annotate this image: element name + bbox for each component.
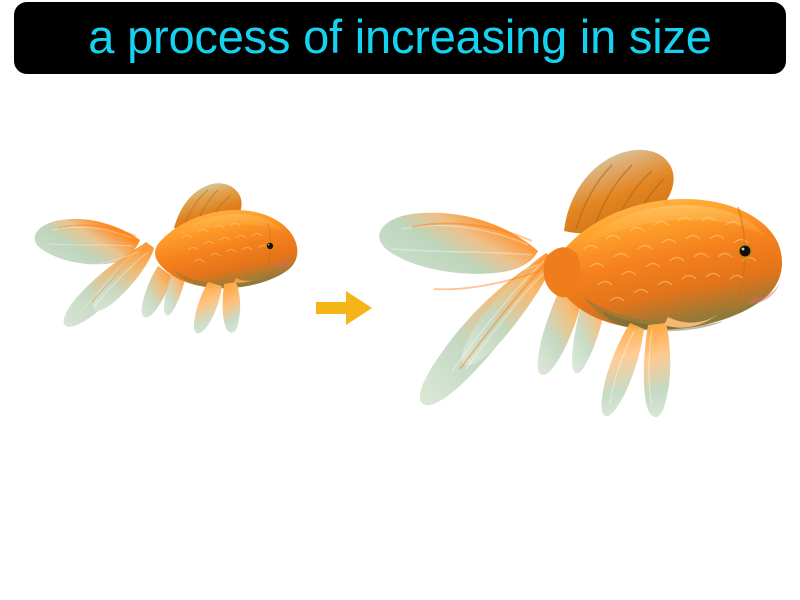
growth-arrow xyxy=(314,288,374,328)
small-fish-eye xyxy=(267,243,273,249)
definition-card: a process of increasing in size xyxy=(0,0,800,600)
large-fish-peduncle xyxy=(544,247,581,297)
definition-banner: a process of increasing in size xyxy=(14,2,786,74)
small-goldfish xyxy=(22,170,312,370)
large-fish-eye xyxy=(740,246,751,257)
large-fish-eye-glint xyxy=(742,248,745,251)
illustration-area xyxy=(0,90,800,520)
large-fish-tail-upper xyxy=(379,213,538,274)
small-fish-pelvic-fin-front xyxy=(223,282,240,333)
small-fish-pelvic-fin-back xyxy=(194,282,222,333)
growth-arrow-shape xyxy=(316,291,372,325)
large-fish-pelvic-fin-back xyxy=(602,323,644,416)
large-goldfish xyxy=(372,145,792,435)
large-fish-pelvic-fin-front xyxy=(644,323,670,417)
definition-text: a process of increasing in size xyxy=(88,13,711,60)
small-fish-eye-glint xyxy=(268,244,270,246)
